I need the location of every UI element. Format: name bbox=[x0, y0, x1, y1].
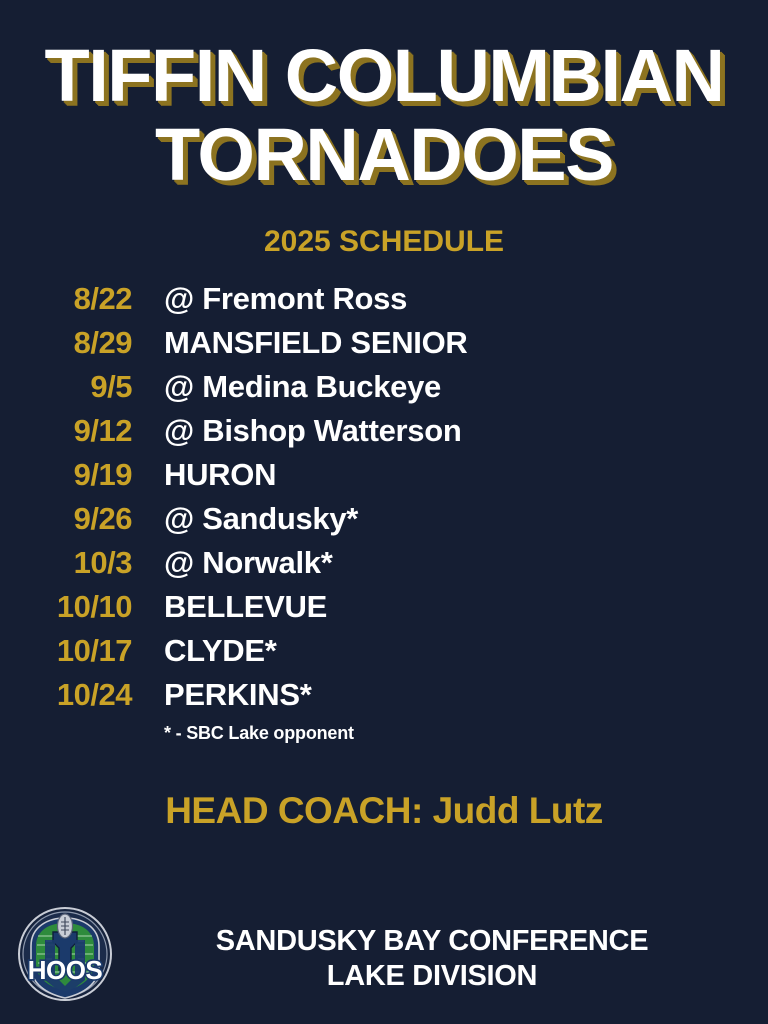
schedule-row: 9/12@ Bishop Watterson bbox=[0, 413, 768, 457]
game-date: 8/29 bbox=[0, 325, 132, 361]
schedule-row: 10/17CLYDE* bbox=[0, 633, 768, 677]
game-date: 9/19 bbox=[0, 457, 132, 493]
game-opponent: @ Fremont Ross bbox=[132, 281, 407, 317]
schedule-row: 10/24PERKINS* bbox=[0, 677, 768, 721]
game-opponent: @ Medina Buckeye bbox=[132, 369, 441, 405]
page-title-line-1: TIFFIN COLUMBIAN bbox=[0, 40, 768, 113]
season-subtitle: 2025 SCHEDULE bbox=[0, 225, 768, 259]
schedule-row: 9/26@ Sandusky* bbox=[0, 501, 768, 545]
conference-name: SANDUSKY BAY CONFERENCE bbox=[110, 924, 754, 959]
schedule-row: 9/5@ Medina Buckeye bbox=[0, 369, 768, 413]
head-coach-line: HEAD COACH: Judd Lutz bbox=[0, 790, 768, 832]
schedule-row: 8/22@ Fremont Ross bbox=[0, 281, 768, 325]
game-date: 8/22 bbox=[0, 281, 132, 317]
game-opponent: @ Norwalk* bbox=[132, 545, 333, 581]
game-opponent: BELLEVUE bbox=[132, 589, 327, 625]
schedule-list: 8/22@ Fremont Ross8/29MANSFIELD SENIOR9/… bbox=[0, 281, 768, 721]
schedule-poster: TIFFIN COLUMBIAN TORNADOES 2025 SCHEDULE… bbox=[0, 0, 768, 1024]
title-block: TIFFIN COLUMBIAN TORNADOES bbox=[0, 0, 768, 191]
game-opponent: @ Sandusky* bbox=[132, 501, 358, 537]
schedule-row: 8/29MANSFIELD SENIOR bbox=[0, 325, 768, 369]
game-date: 10/17 bbox=[0, 633, 132, 669]
schedule-footnote: * - SBC Lake opponent bbox=[0, 723, 768, 744]
game-date: 9/26 bbox=[0, 501, 132, 537]
game-date: 9/12 bbox=[0, 413, 132, 449]
page-title-line-2: TORNADOES bbox=[0, 119, 768, 192]
footer-text-block: SANDUSKY BAY CONFERENCE LAKE DIVISION bbox=[110, 924, 754, 995]
game-opponent: PERKINS* bbox=[132, 677, 311, 713]
schedule-row: 9/19HURON bbox=[0, 457, 768, 501]
schedule-row: 10/3@ Norwalk* bbox=[0, 545, 768, 589]
hoos-football-badge-logo: HOOS bbox=[15, 904, 115, 1004]
game-opponent: MANSFIELD SENIOR bbox=[132, 325, 468, 361]
game-opponent: @ Bishop Watterson bbox=[132, 413, 462, 449]
footer: HOOS SANDUSKY BAY CONFERENCE LAKE DIVISI… bbox=[0, 900, 768, 1012]
game-date: 10/24 bbox=[0, 677, 132, 713]
game-date: 10/10 bbox=[0, 589, 132, 625]
game-date: 10/3 bbox=[0, 545, 132, 581]
svg-text:HOOS: HOOS bbox=[28, 955, 103, 985]
division-name: LAKE DIVISION bbox=[110, 959, 754, 994]
game-opponent: CLYDE* bbox=[132, 633, 276, 669]
game-date: 9/5 bbox=[0, 369, 132, 405]
game-opponent: HURON bbox=[132, 457, 276, 493]
schedule-row: 10/10BELLEVUE bbox=[0, 589, 768, 633]
